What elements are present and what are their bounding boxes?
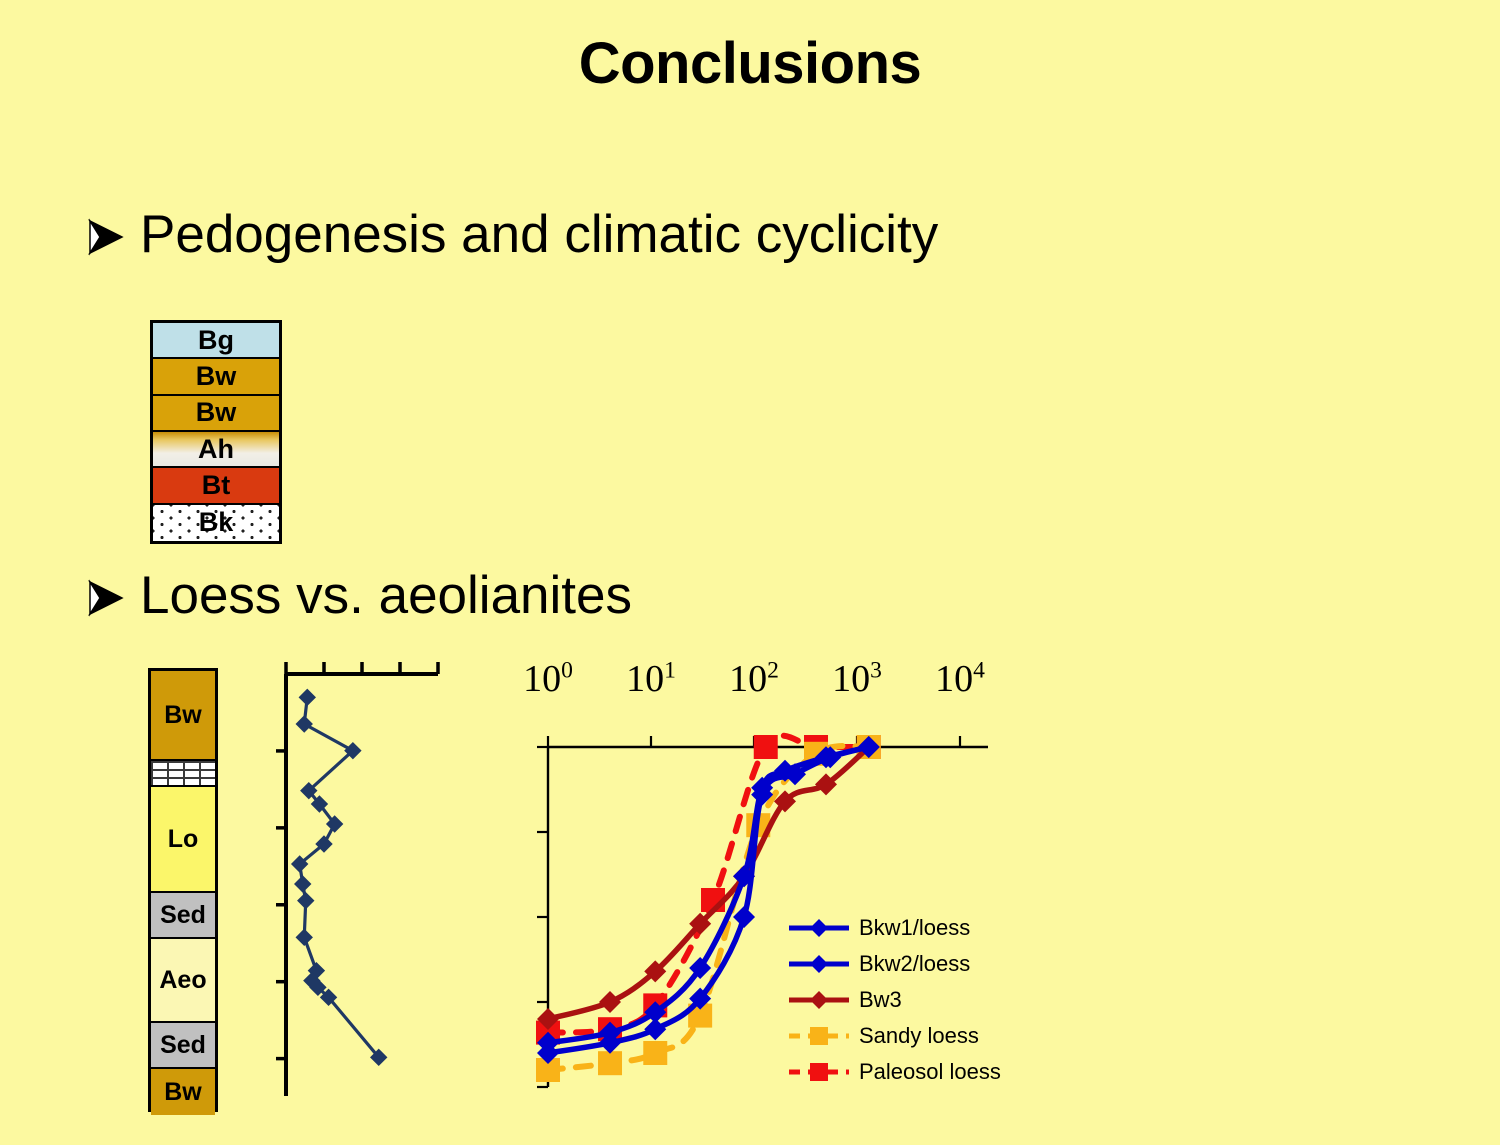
legend-key-icon [788,987,850,1013]
bullet-label-loess: Loess vs. aeolianites [140,568,632,624]
soil-layer-ah: Ah [153,432,279,468]
strat-layer-label: Sed [160,1033,206,1058]
grain-size-marker-square [643,1041,667,1065]
strat-layer-label: Sed [160,903,206,928]
legend-key-icon [788,1023,850,1049]
depth-profile-svg [272,658,452,1113]
legend-key-icon [788,915,850,941]
page-title: Conclusions [0,30,1500,97]
soil-layer-label: Bg [198,327,234,354]
strat-layer-label: Bw [164,1080,202,1105]
soil-layer-label: Ah [198,436,234,463]
depth-profile-chart [272,658,452,1113]
bullet-item-pedogenesis: Pedogenesis and climatic cyclicity [84,207,938,263]
depth-profile-line [300,697,379,1057]
strat-layer-bw-bottom: Bw [151,1069,215,1115]
strat-layer-lo: Lo [151,787,215,893]
strat-layer-label: Bw [164,703,202,728]
soil-layer-bw-2: Bw [153,396,279,432]
strat-layer-label: Aeo [159,968,206,993]
legend-label: Bkw2/loess [859,951,970,977]
legend-key-icon [788,1059,850,1085]
soil-layer-bk: Bk [153,505,279,541]
legend-item: Sandy loess [788,1021,1001,1050]
legend-item: Bkw2/loess [788,949,1001,978]
grain-size-x-tick-label: 100 [523,657,573,701]
depth-profile-marker [299,689,315,705]
grain-size-marker-square [754,735,778,759]
grain-size-x-axis-labels: 100101102103104 [500,655,990,715]
soil-layer-bt: Bt [153,468,279,504]
legend-label: Paleosol loess [859,1059,1001,1085]
legend-label: Bw3 [859,987,902,1013]
strat-layer-sed-upper: Sed [151,893,215,939]
strat-layer-aeo: Aeo [151,939,215,1023]
legend-label: Bkw1/loess [859,915,970,941]
legend-key-icon [788,951,850,977]
pedogenesis-soil-profile: Bg Bw Bw Ah Bt Bk [150,320,282,544]
arrow-bullet-icon [84,215,128,259]
legend-item: Paleosol loess [788,1057,1001,1086]
legend-item: Bkw1/loess [788,913,1001,942]
arrow-bullet-icon [84,576,128,620]
soil-layer-label: Bk [199,509,234,536]
bullet-label-pedogenesis: Pedogenesis and climatic cyclicity [140,207,938,263]
grain-size-x-tick-label: 101 [626,657,676,701]
depth-profile-marker [296,929,312,945]
legend-label: Sandy loess [859,1023,979,1049]
grain-size-x-tick-label: 103 [832,657,882,701]
legend-item: Bw3 [788,985,1001,1014]
strat-layer-sed-lower: Sed [151,1023,215,1069]
soil-layer-label: Bt [202,472,231,499]
grain-size-x-tick-label: 102 [729,657,779,701]
strat-layer-bw-top: Bw [151,671,215,761]
grain-size-x-tick-label: 104 [935,657,985,701]
strat-layer-label: Lo [168,827,199,852]
bullet-item-loess: Loess vs. aeolianites [84,568,632,624]
soil-layer-label: Bw [196,363,237,390]
depth-profile-marker [295,876,311,892]
grain-size-marker-diamond [733,906,755,928]
soil-layer-label: Bw [196,399,237,426]
depth-profile-marker [296,716,312,732]
grain-size-marker-square [598,1051,622,1075]
strat-layer-calcrete [151,761,215,787]
slide-canvas: Conclusions Pedogenesis and climatic cyc… [0,0,1500,1145]
grain-size-legend: Bkw1/loessBkw2/loessBw3Sandy loessPaleos… [788,913,1001,1086]
grain-size-distribution-chart: 100101102103104 Bkw1/loessBkw2/loessBw3S… [500,655,990,1120]
depth-profile-marker [298,893,314,909]
soil-layer-bg: Bg [153,323,279,359]
grain-size-marker-diamond [599,991,621,1013]
loess-aeolianite-profile: Bw Lo Sed Aeo Sed Bw [148,668,218,1112]
soil-layer-bw-1: Bw [153,359,279,395]
